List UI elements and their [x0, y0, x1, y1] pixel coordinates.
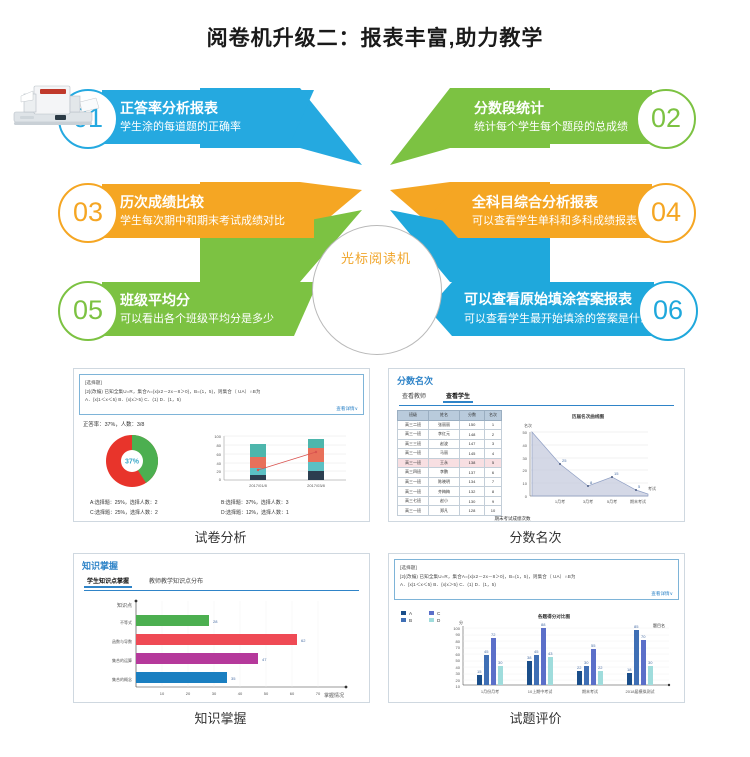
svg-text:40: 40: [238, 691, 243, 696]
svg-text:88: 88: [541, 622, 546, 627]
knowledge-title: 知识掌握: [82, 559, 369, 572]
score-rank-title: 分数名次: [397, 374, 684, 387]
svg-text:30: 30: [456, 671, 461, 676]
tab-view-teacher[interactable]: 查看教师: [399, 391, 429, 403]
svg-text:60: 60: [456, 652, 461, 657]
correct-rate-text: 正答率：37%，人数：3/8: [83, 420, 369, 428]
question-tag: [选择题]: [400, 564, 673, 573]
question-line1: [2](改编) 已知全集U=R，集合A={x|x2－2x－8＞0}，B=(1，5…: [400, 573, 673, 582]
svg-text:43: 43: [548, 651, 553, 656]
feature-hub-diagram: 01 正答率分析报表 学生涂的每道题的正确率 02 分数段统计 统计每个学生每个…: [0, 70, 750, 360]
chart-ylabel: 名次: [524, 422, 532, 428]
svg-text:不等式: 不等式: [120, 619, 132, 625]
svg-text:30: 30: [584, 660, 589, 665]
panel-knowledge[interactable]: 知识掌握 学生知识点掌握 教师教学知识点分布 知识点 28 62 47 35 不…: [73, 553, 370, 703]
svg-text:10: 10: [523, 481, 528, 486]
feature-desc-01: 学生涂的每道题的正确率: [120, 122, 241, 133]
svg-text:100: 100: [214, 434, 221, 439]
feature-title-01: 正答率分析报表: [120, 101, 218, 115]
svg-text:45: 45: [484, 649, 489, 654]
svg-text:50: 50: [456, 658, 461, 663]
rank-history-area-chart: 历届名次曲线图 名次 50 40 30 20 10 0 25 8 15 5 1月…: [502, 408, 657, 516]
svg-text:72: 72: [491, 632, 496, 637]
svg-text:0: 0: [219, 477, 222, 482]
svg-text:A: A: [409, 611, 413, 616]
svg-text:47: 47: [262, 657, 267, 662]
svg-text:80: 80: [217, 443, 222, 448]
table-row: 高三一班王永1385: [398, 458, 502, 468]
svg-text:85: 85: [634, 624, 639, 629]
feature-desc-03: 学生每次期中和期末考试成绩对比: [120, 216, 285, 227]
svg-text:20: 20: [217, 469, 222, 474]
question-box: [选择题] [2](改编) 已知全集U=R，集合A={x|x2－2x－8＞0}，…: [394, 559, 679, 600]
svg-text:20: 20: [523, 468, 528, 473]
option-stat-b: B:选择题：37%，选择人数：3: [221, 499, 352, 509]
score-rank-tabs[interactable]: 查看教师 查看学生: [399, 391, 674, 406]
option-stat-a: A:选择题：25%，选择人数：2: [90, 499, 221, 509]
view-detail-link[interactable]: 查看详情∨: [85, 406, 358, 412]
svg-text:18: 18: [627, 667, 632, 672]
svg-text:70: 70: [641, 634, 646, 639]
item-eval-bar-chart: A C B D 各题得分对比图 题目名 分 1009080 706050 403…: [389, 605, 682, 701]
svg-text:0: 0: [525, 494, 528, 499]
col-name: 姓名: [429, 411, 460, 421]
option-stat-d: D:选择题：12%，选择人数：1: [221, 509, 352, 519]
center-hub-label: 光标阅读机: [312, 248, 440, 267]
svg-text:集合的概念: 集合的概念: [112, 676, 132, 682]
omr-scanner-machine-icon: [0, 70, 108, 132]
feature-number-06: 06: [638, 281, 698, 341]
svg-text:50: 50: [264, 691, 269, 696]
svg-text:B: B: [409, 618, 412, 623]
svg-text:35: 35: [231, 676, 236, 681]
feature-title-02: 分数段统计: [474, 101, 544, 115]
table-row: 高三二班张丽丽1501: [398, 420, 502, 430]
col-class: 班级: [398, 411, 429, 421]
svg-text:10: 10: [456, 684, 461, 689]
option-stat-c: C:选择题：25%，选择人数：2: [90, 509, 221, 519]
svg-text:45: 45: [534, 649, 539, 654]
panel-caption-knowledge: 知识掌握: [73, 708, 368, 727]
svg-text:40: 40: [217, 461, 222, 466]
view-detail-link[interactable]: 查看详情∨: [400, 591, 673, 597]
page-title: 阅卷机升级二：报表丰富,助力教学: [0, 22, 750, 52]
svg-text:15: 15: [477, 669, 482, 674]
tab-teacher-knowledge[interactable]: 教师教学知识点分布: [146, 576, 206, 588]
svg-text:25: 25: [562, 458, 567, 463]
svg-text:80: 80: [456, 639, 461, 644]
svg-text:15: 15: [614, 471, 619, 476]
svg-text:10上期中考试: 10上期中考试: [528, 688, 552, 694]
svg-text:1月考: 1月考: [555, 498, 565, 504]
feature-desc-04: 可以查看学生单科和多科成绩报表: [472, 216, 637, 227]
svg-text:30: 30: [648, 660, 653, 665]
svg-text:50: 50: [523, 430, 528, 435]
feature-number-04: 04: [636, 183, 696, 243]
feature-number-02: 02: [636, 89, 696, 149]
donut-chart: 37%: [106, 435, 158, 487]
table-header-row: 班级 姓名 分数 名次: [398, 411, 502, 421]
stacked-bar-chart: 100 80 60 40 20 0 2017/01/8 2017/03/8: [214, 434, 346, 488]
svg-text:考试: 考试: [648, 485, 656, 491]
svg-text:5: 5: [638, 484, 641, 489]
chart-title: 历届名次曲线图: [572, 413, 605, 420]
svg-text:62: 62: [301, 638, 306, 643]
feature-item-02[interactable]: 02 分数段统计 统计每个学生每个题段的总成绩: [428, 84, 708, 150]
svg-text:20: 20: [186, 691, 191, 696]
panel-exam-analysis[interactable]: [选择题] [2](改编) 已知全集U=R，集合A={x|x2－2x－8＞0}，…: [73, 368, 370, 522]
svg-text:100: 100: [453, 626, 460, 631]
panel-caption-item-eval: 试题评价: [388, 708, 683, 727]
svg-text:5月考: 5月考: [607, 498, 617, 504]
feature-item-05[interactable]: 05 班级平均分 可以看出各个班级平均分是多少: [42, 276, 332, 342]
score-rank-table: 班级 姓名 分数 名次 高三二班张丽丽1501 高三一班李红元1482 高三三班…: [397, 410, 502, 516]
question-line1: [2](改编) 已知全集U=R，集合A={x|x2－2x－8＞0}，B=(1，5…: [85, 388, 358, 397]
table-row: 高三一班马丽1454: [398, 449, 502, 459]
svg-text:70: 70: [456, 645, 461, 650]
svg-text:90: 90: [456, 632, 461, 637]
svg-text:10: 10: [160, 691, 165, 696]
chart-xlabel: 题目名: [653, 622, 665, 628]
svg-text:2018届模拟测试: 2018届模拟测试: [626, 688, 655, 694]
chart-ylabel: 分: [459, 619, 463, 625]
svg-text:C: C: [437, 611, 441, 616]
col-rank: 名次: [485, 411, 502, 421]
feature-item-03[interactable]: 03 历次成绩比较 学生每次期中和期末考试成绩对比: [42, 178, 332, 244]
chart-ylabel: 知识点: [117, 602, 132, 609]
feature-desc-06: 可以查看学生最开始填涂的答案是什么: [464, 314, 651, 325]
chart-title: 各题得分对比图: [537, 613, 571, 620]
svg-text:40: 40: [523, 443, 528, 448]
panel-caption-score-rank: 分数名次: [388, 527, 683, 546]
rank-chart-xlabel: 期末考试成绩次数: [341, 516, 684, 522]
feature-title-05: 班级平均分: [120, 293, 190, 307]
tab-view-student[interactable]: 查看学生: [443, 391, 473, 403]
svg-text:60: 60: [290, 691, 295, 696]
panel-caption-exam-analysis: 试卷分析: [73, 527, 368, 546]
svg-text:集合的运算: 集合的运算: [112, 657, 132, 663]
table-row: 高三一班李红元1482: [398, 430, 502, 440]
feature-title-04: 全科目综合分析报表: [472, 195, 598, 209]
table-row: 高三一班陈晓明1347: [398, 477, 502, 487]
feature-item-04[interactable]: 04 全科目综合分析报表 可以查看学生单科和多科成绩报表: [418, 178, 708, 244]
svg-text:40: 40: [456, 665, 461, 670]
panel-item-eval[interactable]: [选择题] [2](改编) 已知全集U=R，集合A={x|x2－2x－8＞0}，…: [388, 553, 685, 703]
knowledge-bar-chart: 知识点 28 62 47 35 不等式 函数与导数 集合的运算 集合的概念 10…: [74, 591, 367, 701]
feature-desc-05: 可以看出各个班级平均分是多少: [120, 314, 274, 325]
svg-text:3月考: 3月考: [583, 498, 593, 504]
svg-text:70: 70: [316, 691, 321, 696]
col-score: 分数: [460, 411, 485, 421]
table-row: 高三四班李鹏1376: [398, 468, 502, 478]
feature-item-06[interactable]: 06 可以查看原始填涂答案报表 可以查看学生最开始填涂的答案是什么: [418, 276, 710, 342]
feature-desc-02: 统计每个学生每个题段的总成绩: [474, 122, 628, 133]
svg-text:60: 60: [217, 452, 222, 457]
knowledge-tabs[interactable]: 学生知识点掌握 教师教学知识点分布: [84, 576, 359, 591]
exam-analysis-charts: 37% 100 80 60 40 20 0: [74, 430, 367, 492]
svg-text:期末考试: 期末考试: [582, 688, 598, 694]
svg-text:38: 38: [527, 655, 532, 660]
feature-title-06: 可以查看原始填涂答案报表: [464, 292, 632, 306]
chart-xlabel: 掌握情况: [324, 692, 344, 699]
question-line2: A．{x|1＜x＜5} B．{x|x＞5} C．(1) D．(1，5): [400, 581, 673, 590]
svg-text:函数与导数: 函数与导数: [112, 638, 132, 644]
feature-number-05: 05: [58, 281, 118, 341]
feature-title-03: 历次成绩比较: [120, 195, 204, 209]
panel-score-rank[interactable]: 分数名次 查看教师 查看学生 班级 姓名 分数 名次 高三二班张丽丽1501 高…: [388, 368, 685, 522]
svg-text:D: D: [437, 618, 441, 623]
tab-student-knowledge[interactable]: 学生知识点掌握: [84, 576, 132, 588]
svg-text:20: 20: [456, 678, 461, 683]
question-tag: [选择题]: [85, 379, 358, 388]
table-row: 高三七班赵小1309: [398, 496, 502, 506]
svg-text:28: 28: [213, 619, 218, 624]
svg-text:37%: 37%: [125, 459, 140, 466]
svg-text:30: 30: [498, 660, 503, 665]
svg-text:22: 22: [598, 665, 603, 670]
svg-text:22: 22: [577, 665, 582, 670]
svg-text:30: 30: [523, 456, 528, 461]
svg-text:2017/01/8: 2017/01/8: [249, 483, 268, 488]
table-row: 高三三班赵波1473: [398, 439, 502, 449]
svg-text:1月份月考: 1月份月考: [481, 688, 499, 694]
feature-number-03: 03: [58, 183, 118, 243]
question-line2: A．{x|1＜x＜5} B．{x|x＞5} C．(1) D．(1，5): [85, 396, 358, 405]
table-row: 高三一班郑凡12810: [398, 506, 502, 516]
center-hub-circle: [312, 225, 442, 355]
svg-text:55: 55: [591, 643, 596, 648]
table-row: 高三一班齐梅梅1328: [398, 487, 502, 497]
svg-text:30: 30: [212, 691, 217, 696]
svg-text:2017/03/8: 2017/03/8: [307, 483, 326, 488]
question-box: [选择题] [2](改编) 已知全集U=R，集合A={x|x2－2x－8＞0}，…: [79, 374, 364, 415]
svg-text:期末考试: 期末考试: [630, 498, 646, 504]
